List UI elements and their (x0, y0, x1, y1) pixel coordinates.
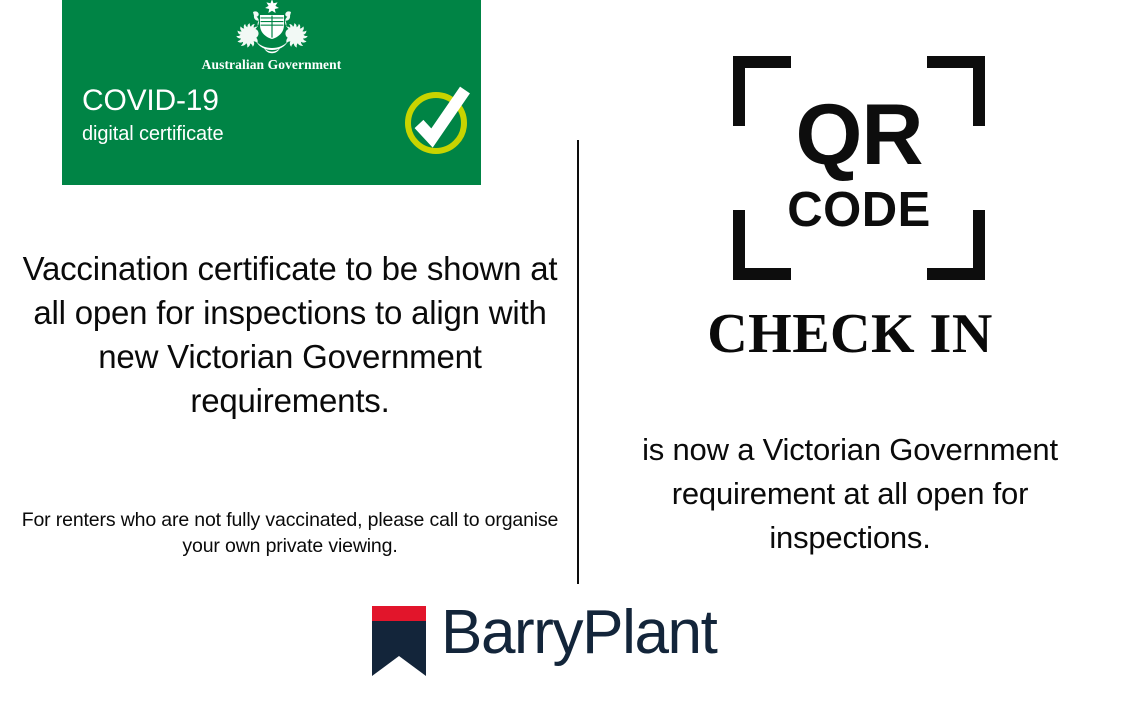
green-check-circle-icon (399, 82, 477, 160)
qr-word-secondary: CODE (733, 186, 985, 235)
certificate-subtitle: digital certificate (82, 124, 224, 144)
qr-requirement-text: is now a Victorian Government requiremen… (592, 428, 1108, 560)
check-in-heading: CHECK IN (600, 306, 1100, 362)
certificate-title: COVID-19 (82, 86, 219, 116)
bookmark-ribbon-icon (372, 606, 426, 676)
qr-graphic-labels: QR CODE (733, 56, 985, 280)
poster-canvas: Australian Government COVID-19 digital c… (0, 0, 1134, 720)
column-divider (577, 140, 579, 584)
vaccination-requirement-text: Vaccination certificate to be shown at a… (16, 247, 564, 423)
qr-code-scanner-frame-icon: QR CODE (733, 56, 985, 280)
certificate-government-name: Australian Government (62, 57, 481, 73)
barryplant-logo: BarryPlant (372, 604, 716, 676)
qr-word-primary: QR (733, 92, 985, 178)
australian-coat-of-arms-icon (62, 0, 481, 65)
covid-digital-certificate-card: Australian Government COVID-19 digital c… (62, 0, 481, 185)
unvaccinated-renters-note: For renters who are not fully vaccinated… (14, 508, 566, 560)
barryplant-wordmark: BarryPlant (441, 604, 716, 663)
